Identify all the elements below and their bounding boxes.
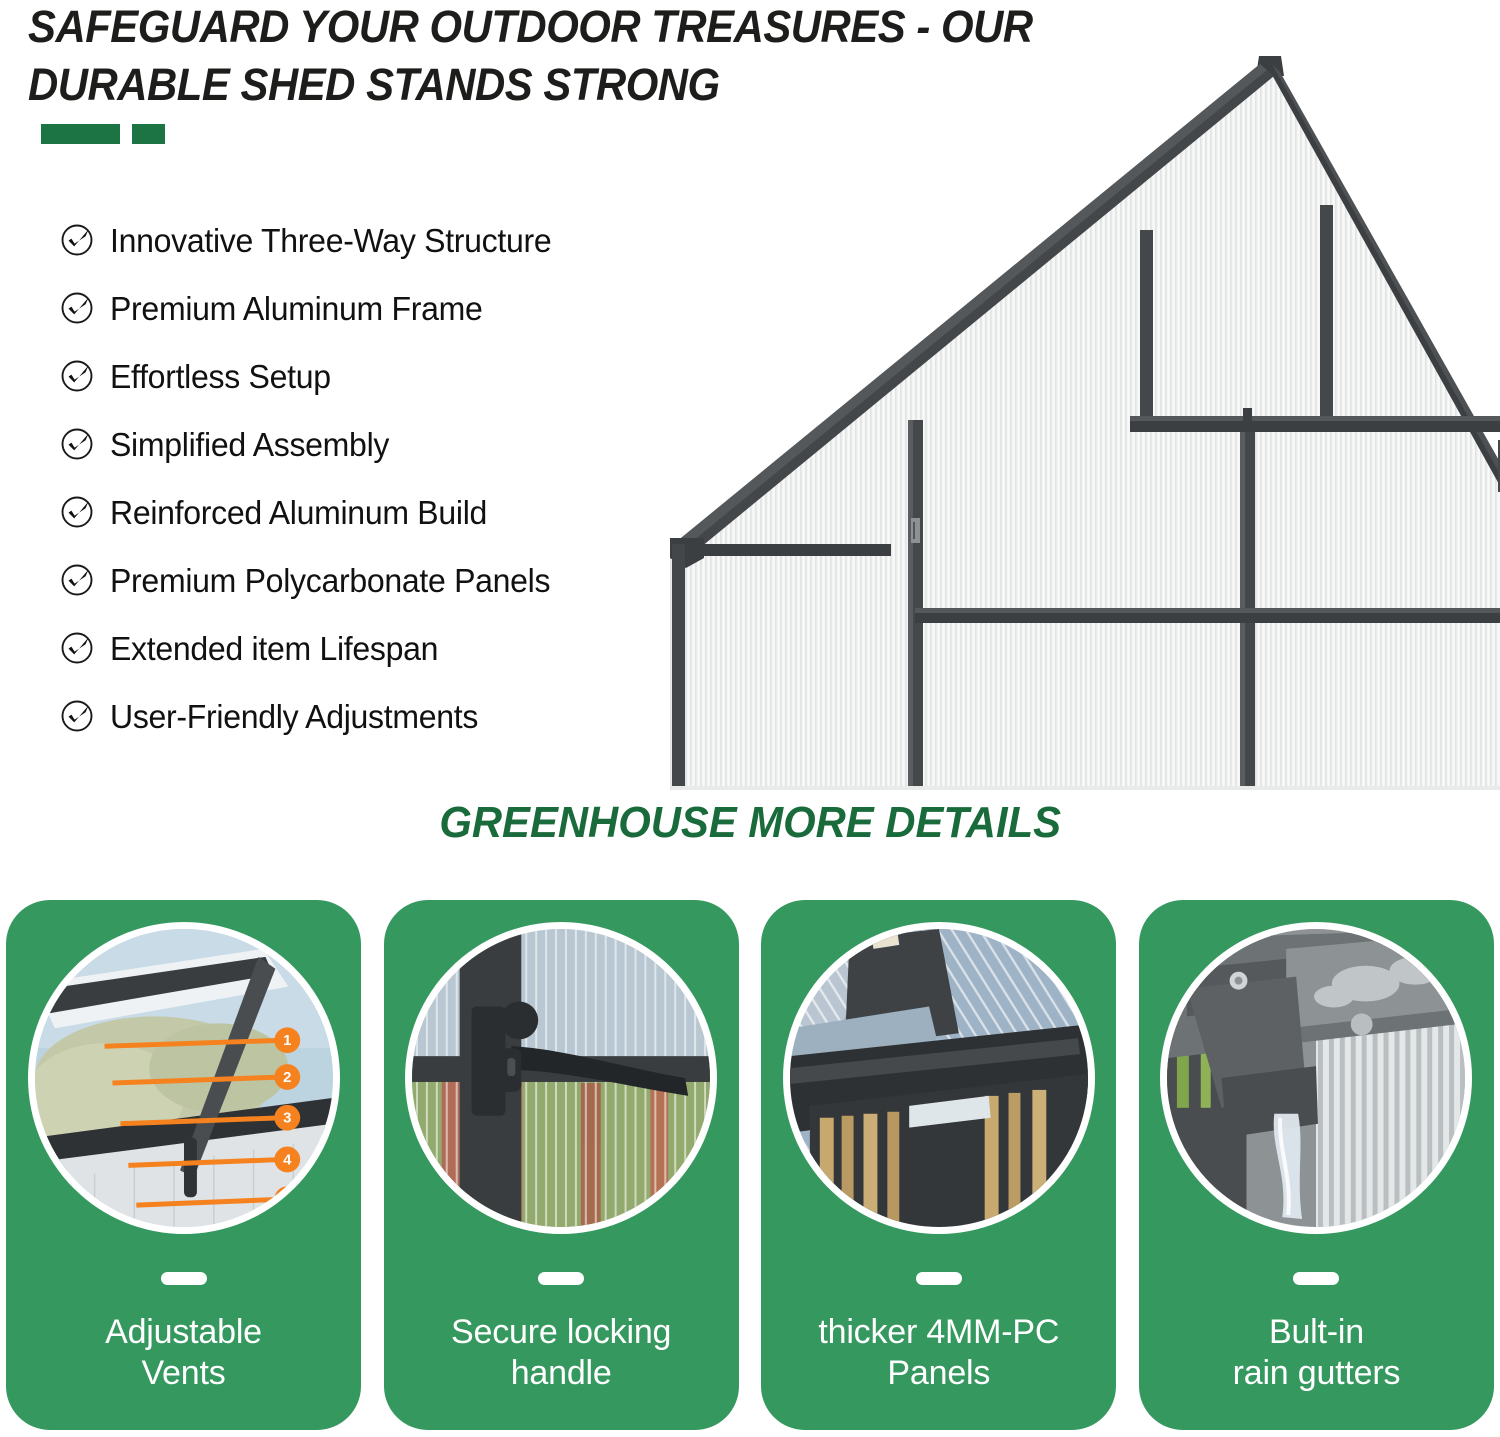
roof-vent-photo: 12345 (35, 929, 333, 1227)
circled-check-icon (60, 495, 94, 529)
list-item: Extended item Lifespan (60, 614, 760, 682)
accent-bar-short (132, 124, 165, 144)
accent-bar-long (41, 124, 120, 144)
details-section-title-text: GREENHOUSE MORE DETAILS (439, 798, 1061, 848)
photo-ring (1160, 922, 1472, 1234)
list-item: Reinforced Aluminum Build (60, 478, 760, 546)
svg-text:5: 5 (283, 1192, 291, 1208)
circled-check-icon (60, 427, 94, 461)
feature-card-label: Adjustable Vents (6, 1312, 361, 1394)
bullet-label: Premium Aluminum Frame (110, 292, 482, 325)
divider-pill (916, 1272, 962, 1285)
circled-check-icon (60, 291, 94, 325)
list-item: Premium Aluminum Frame (60, 274, 760, 342)
feature-card[interactable]: thicker 4MM-PC Panels (761, 900, 1116, 1430)
list-item: Effortless Setup (60, 342, 760, 410)
feature-card-grid: 12345 Adjustable Vents Secure locking ha… (0, 900, 1500, 1437)
feature-card[interactable]: 12345 Adjustable Vents (6, 900, 361, 1430)
svg-text:1: 1 (283, 1033, 291, 1049)
svg-text:4: 4 (283, 1152, 292, 1168)
bullet-label: Reinforced Aluminum Build (110, 496, 487, 529)
polycarbonate-panel-photo (790, 929, 1088, 1227)
divider-pill (538, 1272, 584, 1285)
greenhouse-shed-illustration (660, 20, 1500, 790)
bullet-label: Extended item Lifespan (110, 632, 438, 665)
bullet-label: User-Friendly Adjustments (110, 700, 478, 733)
door-lock-handle-photo (412, 929, 710, 1227)
feature-card-label: thicker 4MM-PC Panels (761, 1312, 1116, 1394)
bullet-label: Effortless Setup (110, 360, 331, 393)
feature-card-label: Bult-in rain gutters (1139, 1312, 1494, 1394)
feature-card-label: Secure locking handle (384, 1312, 739, 1394)
photo-ring (783, 922, 1095, 1234)
list-item: Premium Polycarbonate Panels (60, 546, 760, 614)
circled-check-icon (60, 223, 94, 257)
photo-ring (405, 922, 717, 1234)
svg-text:3: 3 (283, 1111, 291, 1127)
svg-text:2: 2 (283, 1070, 291, 1086)
feature-card[interactable]: Secure locking handle (384, 900, 739, 1430)
photo-ring: 12345 (28, 922, 340, 1234)
feature-card[interactable]: Bult-in rain gutters (1139, 900, 1494, 1430)
list-item: Innovative Three-Way Structure (60, 206, 760, 274)
bullet-label: Simplified Assembly (110, 428, 389, 461)
list-item: Simplified Assembly (60, 410, 760, 478)
bullet-label: Premium Polycarbonate Panels (110, 564, 550, 597)
rain-gutter-photo (1167, 929, 1465, 1227)
hero-section: SAFEGUARD YOUR OUTDOOR TREASURES - OUR D… (0, 0, 1500, 800)
accent-bars (41, 124, 165, 144)
list-item: User-Friendly Adjustments (60, 682, 760, 750)
circled-check-icon (60, 359, 94, 393)
feature-bullet-list: Innovative Three-Way Structure Premium A… (60, 206, 760, 750)
bullet-label: Innovative Three-Way Structure (110, 224, 551, 257)
circled-check-icon (60, 631, 94, 665)
circled-check-icon (60, 699, 94, 733)
circled-check-icon (60, 563, 94, 597)
divider-pill (1293, 1272, 1339, 1285)
divider-pill (161, 1272, 207, 1285)
details-section-title: GREENHOUSE MORE DETAILS (0, 798, 1500, 848)
